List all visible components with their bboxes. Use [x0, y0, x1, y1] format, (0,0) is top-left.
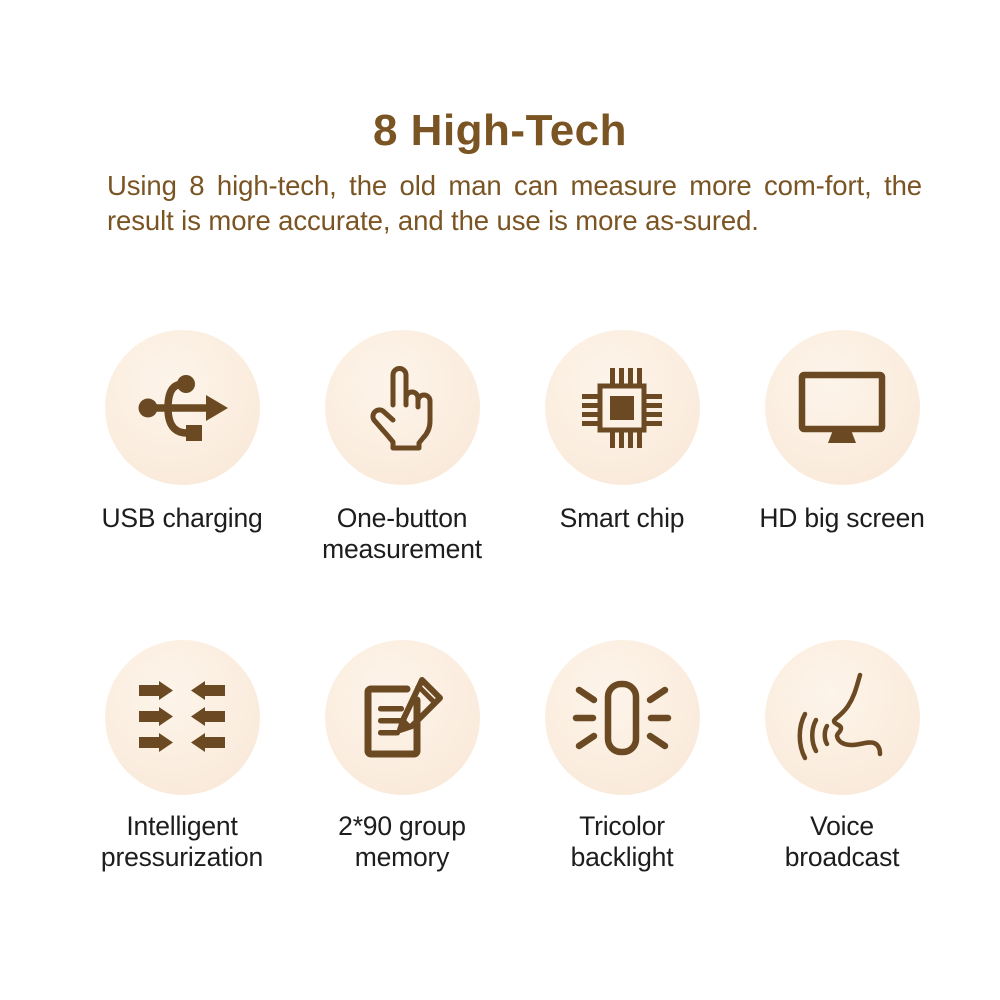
feature-item-one-button-measurement: One-button measurement — [292, 330, 512, 640]
icon-bubble — [105, 640, 260, 795]
feature-item-intelligent-pressurization: Intelligent pressurization — [72, 640, 292, 950]
page-title: 8 High-Tech — [0, 0, 1000, 154]
feature-label: Intelligent pressurization — [67, 811, 297, 872]
feature-label: Smart chip — [512, 503, 732, 534]
feature-label: 2*90 group memory — [287, 811, 517, 872]
icon-bubble — [765, 330, 920, 485]
feature-label: USB charging — [72, 503, 292, 534]
feature-label: Tricolor backlight — [507, 811, 737, 872]
feature-item-tricolor-backlight: Tricolor backlight — [512, 640, 732, 950]
page-description: Using 8 high-tech, the old man can measu… — [0, 154, 1000, 238]
feature-infographic: 8 High-Tech Using 8 high-tech, the old m… — [0, 0, 1000, 1000]
icon-bubble — [545, 330, 700, 485]
icon-bubble — [545, 640, 700, 795]
feature-label: One-button measurement — [292, 503, 512, 564]
monitor-screen-icon — [799, 372, 885, 444]
feature-label: Voice broadcast — [727, 811, 957, 872]
icon-bubble — [325, 640, 480, 795]
feature-grid: USB charging One-button measurement — [72, 330, 952, 950]
note-pencil-icon — [360, 678, 444, 758]
feature-item-voice-broadcast: Voice broadcast — [732, 640, 952, 950]
usb-icon — [136, 373, 228, 443]
converging-arrows-icon — [139, 682, 225, 754]
icon-bubble — [325, 330, 480, 485]
feature-label: HD big screen — [732, 503, 952, 534]
backlight-glow-icon — [575, 677, 669, 759]
icon-bubble — [765, 640, 920, 795]
speaking-face-icon — [794, 673, 890, 763]
cpu-chip-icon — [580, 366, 664, 450]
header: 8 High-Tech Using 8 high-tech, the old m… — [0, 0, 1000, 239]
icon-bubble — [105, 330, 260, 485]
feature-item-hd-big-screen: HD big screen — [732, 330, 952, 640]
feature-item-smart-chip: Smart chip — [512, 330, 732, 640]
feature-item-usb-charging: USB charging — [72, 330, 292, 640]
feature-item-group-memory: 2*90 group memory — [292, 640, 512, 950]
pointing-hand-icon — [367, 365, 437, 451]
